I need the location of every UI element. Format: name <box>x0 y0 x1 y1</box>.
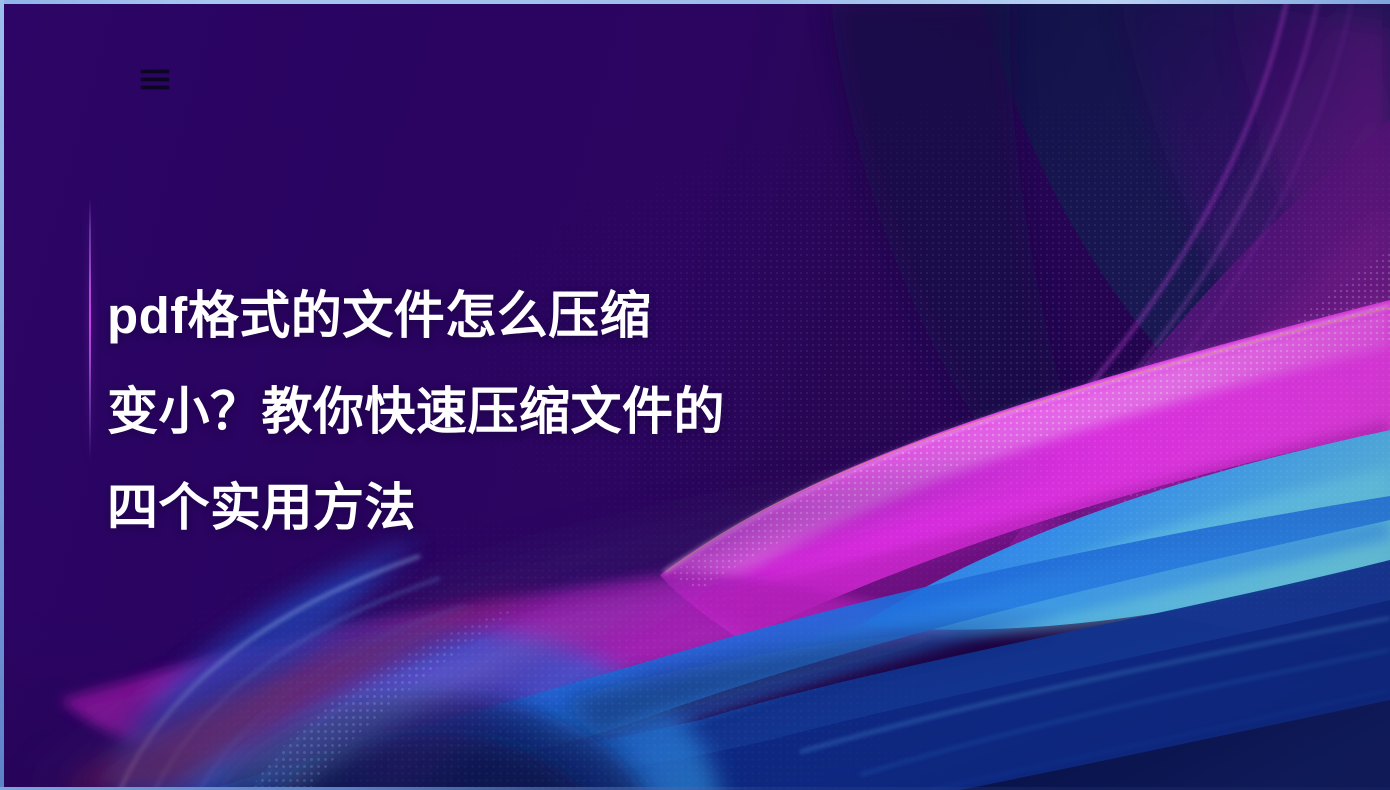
slide-title-line-1: pdf格式的文件怎么压缩 <box>107 268 887 364</box>
slide-title-line-2: 变小？教你快速压缩文件的 <box>107 364 887 460</box>
hamburger-menu-icon[interactable] <box>139 64 171 94</box>
hamburger-line-2 <box>141 78 169 81</box>
slide-title-line-3: 四个实用方法 <box>107 460 887 556</box>
title-accent-rule <box>89 198 91 460</box>
slide-frame-left <box>0 0 4 790</box>
slide-frame-top <box>0 0 1390 4</box>
presentation-slide: pdf格式的文件怎么压缩 变小？教你快速压缩文件的 四个实用方法 <box>0 0 1390 790</box>
slide-title: pdf格式的文件怎么压缩 变小？教你快速压缩文件的 四个实用方法 <box>107 268 887 556</box>
hamburger-line-1 <box>141 70 169 73</box>
hamburger-line-3 <box>141 86 169 89</box>
